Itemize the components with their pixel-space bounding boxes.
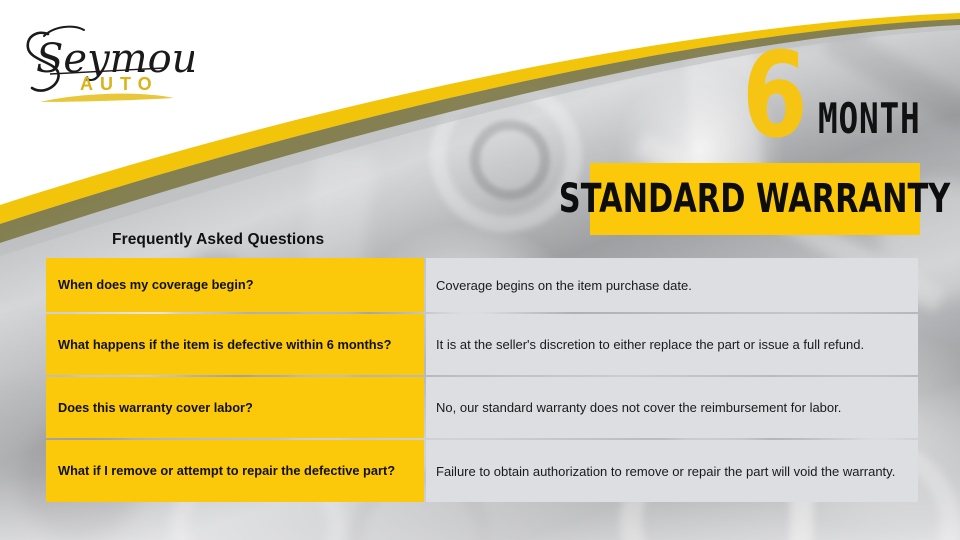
faq-answer-text: It is at the seller's discretion to eith…: [436, 335, 906, 354]
faq-question-text: What if I remove or attempt to repair th…: [58, 463, 395, 479]
faq-answer-cell: Failure to obtain authorization to remov…: [426, 440, 918, 502]
duration-unit: MONTH: [818, 98, 921, 140]
faq-question-cell: Does this warranty cover labor?: [46, 377, 424, 438]
faq-section-title: Frequently Asked Questions: [112, 231, 324, 249]
faq-answer-text: No, our standard warranty does not cover…: [436, 398, 906, 417]
faq-answer-text: Coverage begins on the item purchase dat…: [436, 276, 906, 295]
faq-question-cell: What happens if the item is defective wi…: [46, 314, 424, 375]
faq-answer-cell: Coverage begins on the item purchase dat…: [426, 258, 918, 312]
faq-question-cell: What if I remove or attempt to repair th…: [46, 440, 424, 502]
warranty-slide: Seymour AUTO 6 MONTH STANDARD WARRANTY F…: [0, 0, 960, 540]
faq-question-cell: When does my coverage begin?: [46, 258, 424, 312]
faq-question-text: What happens if the item is defective wi…: [58, 337, 391, 353]
table-row: What if I remove or attempt to repair th…: [46, 440, 918, 502]
faq-answer-text: Failure to obtain authorization to remov…: [436, 462, 906, 481]
table-row: When does my coverage begin? Coverage be…: [46, 258, 918, 312]
standard-warranty-label: STANDARD WARRANTY: [559, 179, 950, 219]
duration-headline: 6 MONTH: [742, 50, 942, 160]
logo-auto-text: AUTO: [80, 74, 159, 94]
standard-warranty-banner: STANDARD WARRANTY: [590, 163, 920, 235]
seymour-auto-logo[interactable]: Seymour AUTO: [14, 14, 194, 110]
duration-number: 6: [742, 36, 806, 154]
faq-question-text: When does my coverage begin?: [58, 277, 254, 293]
logo-swoosh-icon: [40, 94, 174, 102]
table-row: Does this warranty cover labor? No, our …: [46, 377, 918, 438]
faq-question-text: Does this warranty cover labor?: [58, 400, 253, 416]
faq-answer-cell: It is at the seller's discretion to eith…: [426, 314, 918, 375]
faq-table: When does my coverage begin? Coverage be…: [46, 258, 918, 504]
faq-answer-cell: No, our standard warranty does not cover…: [426, 377, 918, 438]
table-row: What happens if the item is defective wi…: [46, 314, 918, 375]
